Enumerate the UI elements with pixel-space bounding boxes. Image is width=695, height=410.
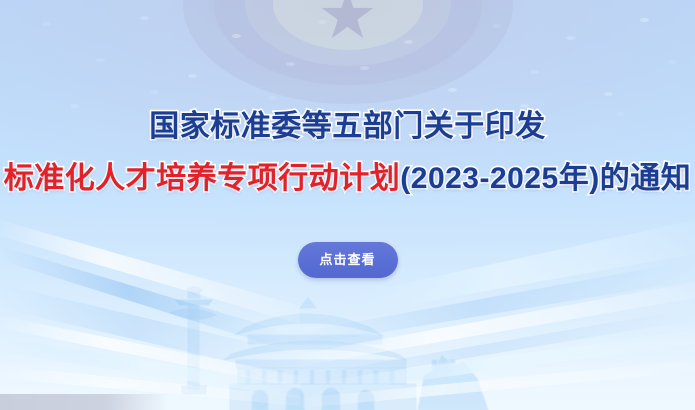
emblem-ring-inner: [245, 0, 451, 66]
decorative-dot: [150, 90, 159, 94]
decorative-dot: [360, 66, 369, 70]
tiananmen-gate-icon: [224, 298, 416, 410]
promo-banner: 国家标准委等五部门关于印发 标准化人才培养专项行动计划(2023-2025年)的…: [0, 0, 695, 410]
decorative-dot: [640, 18, 649, 22]
decorative-dot: [140, 16, 149, 20]
decorative-dot: [70, 104, 79, 108]
skyline-illustration: [0, 280, 695, 410]
national-emblem-star-icon: [183, 0, 513, 104]
footer-strip: [0, 394, 168, 410]
decorative-dot: [232, 34, 241, 38]
decorative-dot: [318, 20, 327, 24]
emblem-ring-core: [273, 0, 423, 50]
title-line-2: 标准化人才培养专项行动计划(2023-2025年)的通知: [0, 164, 695, 194]
cta-container: 点击查看: [0, 242, 695, 278]
emblem-ring-outer: [183, 0, 513, 104]
star-icon: [321, 0, 375, 43]
title-line-2-rest: (2023-2025年)的通知: [400, 162, 691, 195]
banner-title-block: 国家标准委等五部门关于印发 标准化人才培养专项行动计划(2023-2025年)的…: [0, 112, 695, 194]
decorative-dot: [448, 88, 457, 92]
decorative-dot: [42, 22, 51, 26]
great-wall-icon: [418, 356, 488, 410]
decorative-dot: [286, 62, 295, 66]
decorative-dot: [530, 70, 539, 74]
decorative-dot: [96, 58, 105, 62]
decorative-dot: [520, 104, 529, 108]
view-detail-button[interactable]: 点击查看: [298, 242, 398, 278]
huabiao-column-icon: [170, 287, 216, 394]
decorative-dot: [268, 96, 277, 100]
emblem-ring-mid: [214, 0, 482, 85]
decorative-dot: [668, 60, 677, 64]
decorative-dot: [492, 24, 501, 28]
decorative-dot: [404, 40, 413, 44]
title-line-2-highlight: 标准化人才培养专项行动计划: [4, 162, 401, 195]
decorative-dot: [188, 74, 197, 78]
title-line-1: 国家标准委等五部门关于印发: [0, 112, 695, 142]
decorative-dot: [566, 36, 575, 40]
decorative-dot: [604, 92, 613, 96]
